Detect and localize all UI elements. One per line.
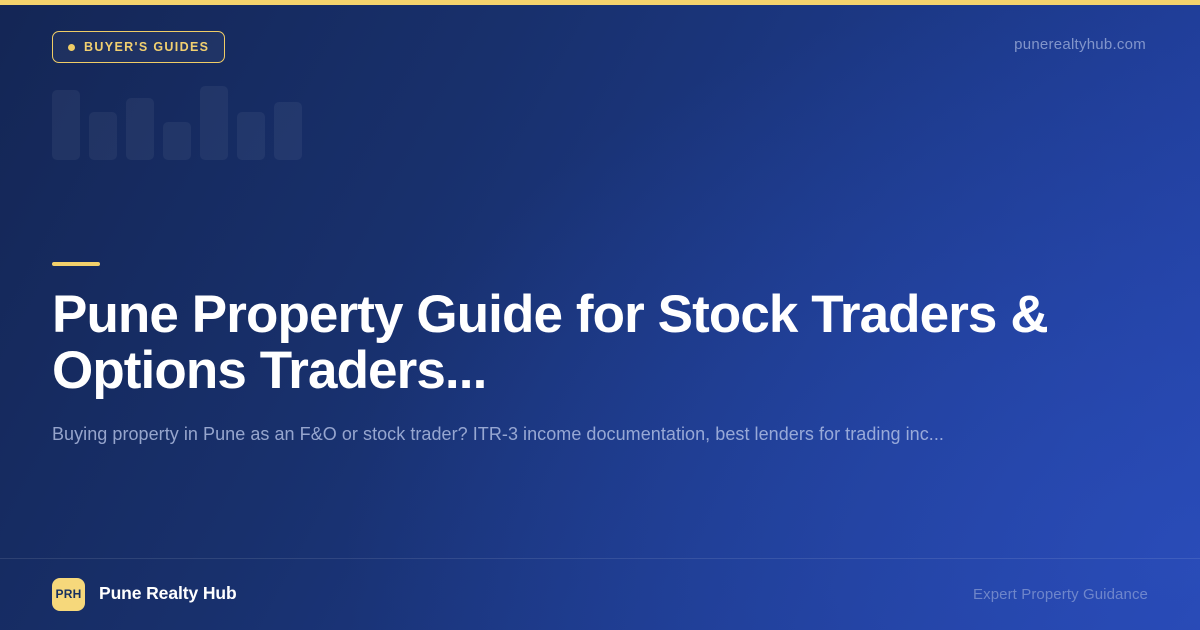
page-description: Buying property in Pune as an F&O or sto… [52, 422, 1062, 447]
decorative-bar-chart [52, 86, 352, 160]
accent-rule [52, 262, 100, 266]
footer-tagline: Expert Property Guidance [973, 587, 1148, 602]
chart-bar [89, 112, 117, 160]
social-share-card: BUYER'S GUIDES punerealtyhub.com Pune Pr… [0, 0, 1200, 630]
category-badge[interactable]: BUYER'S GUIDES [52, 31, 225, 63]
brand-logo-icon: PRH [52, 578, 85, 611]
chart-bar [237, 112, 265, 160]
dot-icon [68, 44, 75, 51]
site-url: punerealtyhub.com [1014, 37, 1146, 52]
main-content: Pune Property Guide for Stock Traders & … [52, 262, 1148, 447]
chart-bar [126, 98, 154, 160]
chart-bar [163, 122, 191, 160]
category-badge-label: BUYER'S GUIDES [84, 41, 209, 54]
footer: PRH Pune Realty Hub Expert Property Guid… [52, 558, 1148, 630]
chart-bar [200, 86, 228, 160]
chart-bar [52, 90, 80, 160]
page-title: Pune Property Guide for Stock Traders & … [52, 287, 1142, 399]
brand[interactable]: PRH Pune Realty Hub [52, 578, 237, 611]
top-accent-bar [0, 0, 1200, 5]
chart-bar [274, 102, 302, 160]
brand-name: Pune Realty Hub [99, 585, 237, 603]
